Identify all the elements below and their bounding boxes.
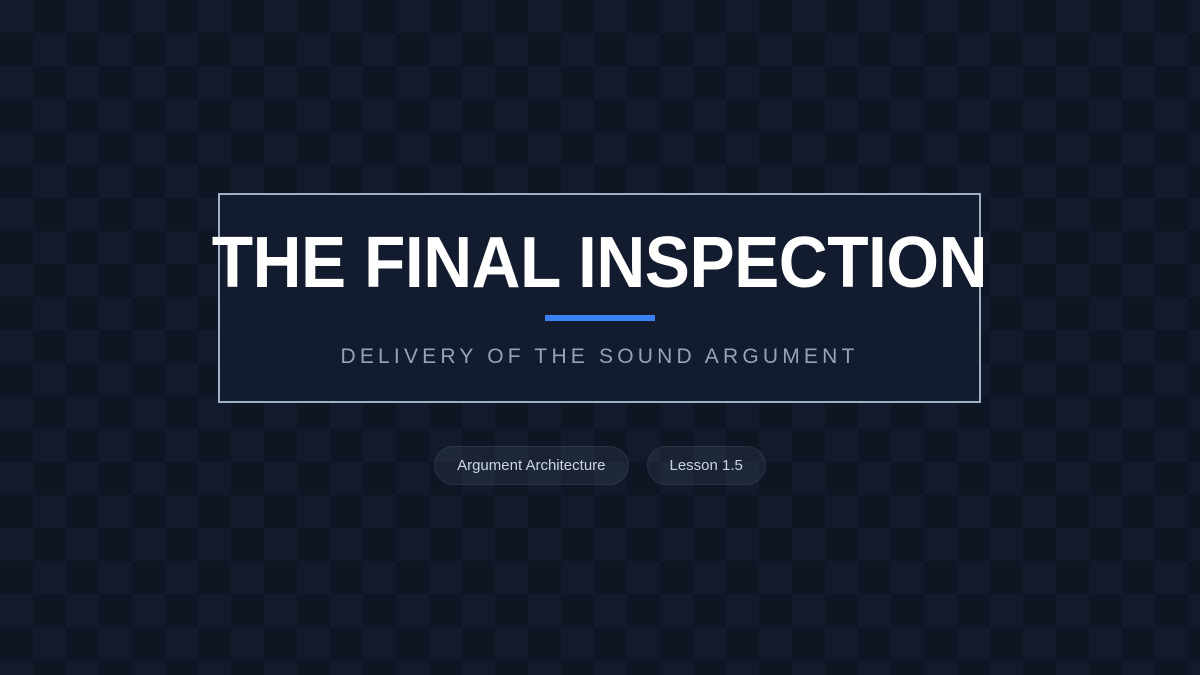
page-title: THE FINAL INSPECTION [212,227,987,299]
accent-divider [545,315,655,321]
badge-argument-architecture[interactable]: Argument Architecture [434,446,628,485]
presentation-slide: THE FINAL INSPECTION DELIVERY OF THE SOU… [0,0,1200,675]
badge-lesson-number[interactable]: Lesson 1.5 [647,446,766,485]
title-card: THE FINAL INSPECTION DELIVERY OF THE SOU… [218,193,981,403]
badge-row: Argument Architecture Lesson 1.5 [0,446,1200,485]
subtitle: DELIVERY OF THE SOUND ARGUMENT [340,345,858,369]
